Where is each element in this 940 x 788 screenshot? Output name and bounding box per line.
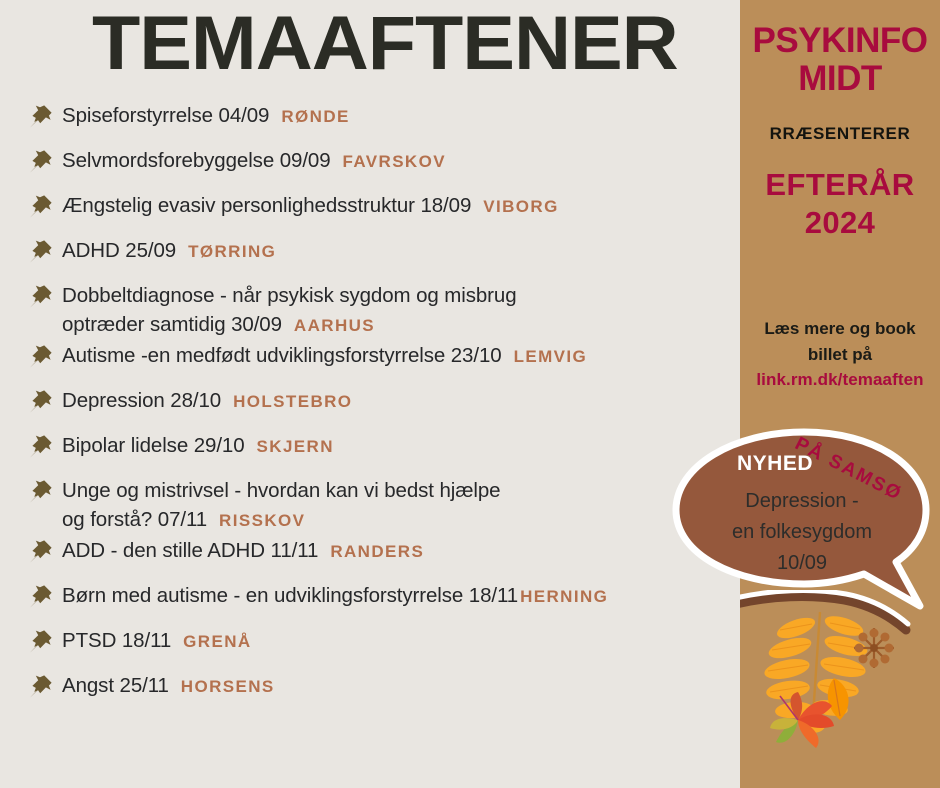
event-city: HORSENS [181,677,275,696]
pushpin-icon [28,478,54,504]
event-row: Spiseforstyrrelse 04/09RØNDE [0,100,740,145]
event-row: Bipolar lidelse 29/10SKJERN [0,430,740,475]
event-text: Bipolar lidelse 29/10SKJERN [62,430,334,461]
event-text: Dobbeltdiagnose - når psykisk sygdom og … [62,280,517,340]
event-city: RANDERS [330,542,424,561]
season-label: EFTERÅR 2024 [740,166,940,242]
event-row: Unge og mistrivsel - hvordan kan vi beds… [0,475,740,535]
readmore-text: Læs mere og book billet på [740,316,940,368]
event-title: Dobbeltdiagnose - når psykisk sygdom og … [62,284,517,307]
event-title: Angst 25/11 [62,674,169,697]
readmore-line-1: Læs mere og book [740,316,940,342]
event-title-line-2: og forstå? 07/11RISSKOV [62,505,500,535]
event-title: PTSD 18/11 [62,629,171,652]
event-text: Ængstelig evasiv personlighedsstruktur 1… [62,190,559,221]
event-title-line-2: optræder samtidig 30/09AARHUS [62,310,517,340]
main-column: TEMAAFTENER Spiseforstyrrelse 04/09RØNDE… [0,0,740,788]
bubble-line-3: 10/09 [668,548,936,579]
brand-line-2: MIDT [740,60,940,98]
bubble-line-1: Depression - [668,486,936,517]
pushpin-icon [28,433,54,459]
event-text: Spiseforstyrrelse 04/09RØNDE [62,100,350,131]
event-row: Angst 25/11HORSENS [0,670,740,715]
event-title: Spiseforstyrrelse 04/09 [62,104,269,127]
event-text: Autisme -en medfødt udviklingsforstyrrel… [62,340,587,371]
event-text: ADHD 25/09TØRRING [62,235,276,266]
event-city: LEMVIG [514,347,588,366]
brand-line-1: PSYKINFO [740,22,940,60]
event-title: Bipolar lidelse 29/10 [62,434,245,457]
pushpin-icon [28,583,54,609]
event-title: ADHD 25/09 [62,239,176,262]
event-row: Autisme -en medfødt udviklingsforstyrrel… [0,340,740,385]
event-city: SKJERN [257,437,334,456]
event-city: HOLSTEBRO [233,392,352,411]
news-speech-bubble: NYHED PÅ SAMSØ Depression - en folkesygd… [668,428,936,618]
pushpin-icon [28,148,54,174]
brand-name: PSYKINFO MIDT [740,22,940,98]
events-list: Spiseforstyrrelse 04/09RØNDESelvmordsfor… [0,100,740,715]
pushpin-icon [28,343,54,369]
event-text: Unge og mistrivsel - hvordan kan vi beds… [62,475,500,535]
event-text: Angst 25/11HORSENS [62,670,275,701]
event-text: Selvmordsforebyggelse 09/09FAVRSKOV [62,145,446,176]
event-text: Depression 28/10HOLSTEBRO [62,385,352,416]
pushpin-icon [28,388,54,414]
event-title: Depression 28/10 [62,389,221,412]
bubble-body-text: Depression - en folkesygdom 10/09 [668,486,936,579]
event-city: AARHUS [294,316,375,335]
event-text: PTSD 18/11GRENÅ [62,625,252,656]
season-line-2: 2024 [740,204,940,242]
season-line-1: EFTERÅR [740,166,940,204]
pushpin-icon [28,103,54,129]
event-city: TØRRING [188,242,276,261]
presents-label: RRÆSENTERER [740,124,940,144]
event-row: PTSD 18/11GRENÅ [0,625,740,670]
pushpin-icon [28,538,54,564]
pushpin-icon [28,628,54,654]
event-title: Unge og mistrivsel - hvordan kan vi beds… [62,479,500,502]
readmore-line-2: billet på [740,342,940,368]
pushpin-icon [28,193,54,219]
poster-canvas: TEMAAFTENER Spiseforstyrrelse 04/09RØNDE… [0,0,940,788]
event-row: Depression 28/10HOLSTEBRO [0,385,740,430]
sidebar: PSYKINFO MIDT RRÆSENTERER EFTERÅR 2024 L… [740,0,940,788]
event-city: GRENÅ [183,632,251,651]
page-title: TEMAAFTENER [92,6,678,82]
pushpin-icon [28,283,54,309]
event-city: RISSKOV [219,511,305,530]
event-city: VIBORG [483,197,558,216]
booking-link[interactable]: link.rm.dk/temaaften [740,370,940,390]
event-row: Selvmordsforebyggelse 09/09FAVRSKOV [0,145,740,190]
event-row: ADHD 25/09TØRRING [0,235,740,280]
event-title: Ængstelig evasiv personlighedsstruktur 1… [62,194,471,217]
event-row: ADD - den stille ADHD 11/11RANDERS [0,535,740,580]
event-title: ADD - den stille ADHD 11/11 [62,539,318,562]
event-city: FAVRSKOV [343,152,446,171]
event-city: RØNDE [281,107,349,126]
event-title: Selvmordsforebyggelse 09/09 [62,149,331,172]
event-title: Autisme -en medfødt udviklingsforstyrrel… [62,344,502,367]
bubble-line-2: en folkesygdom [668,517,936,548]
event-row: Ængstelig evasiv personlighedsstruktur 1… [0,190,740,235]
event-city: HERNING [520,587,608,606]
event-row: Dobbeltdiagnose - når psykisk sygdom og … [0,280,740,340]
event-text: ADD - den stille ADHD 11/11RANDERS [62,535,424,566]
event-row: Børn med autisme - en udviklingsforstyrr… [0,580,740,625]
pushpin-icon [28,238,54,264]
event-title: Børn med autisme - en udviklingsforstyrr… [62,584,518,607]
event-text: Børn med autisme - en udviklingsforstyrr… [62,580,608,611]
pushpin-icon [28,673,54,699]
